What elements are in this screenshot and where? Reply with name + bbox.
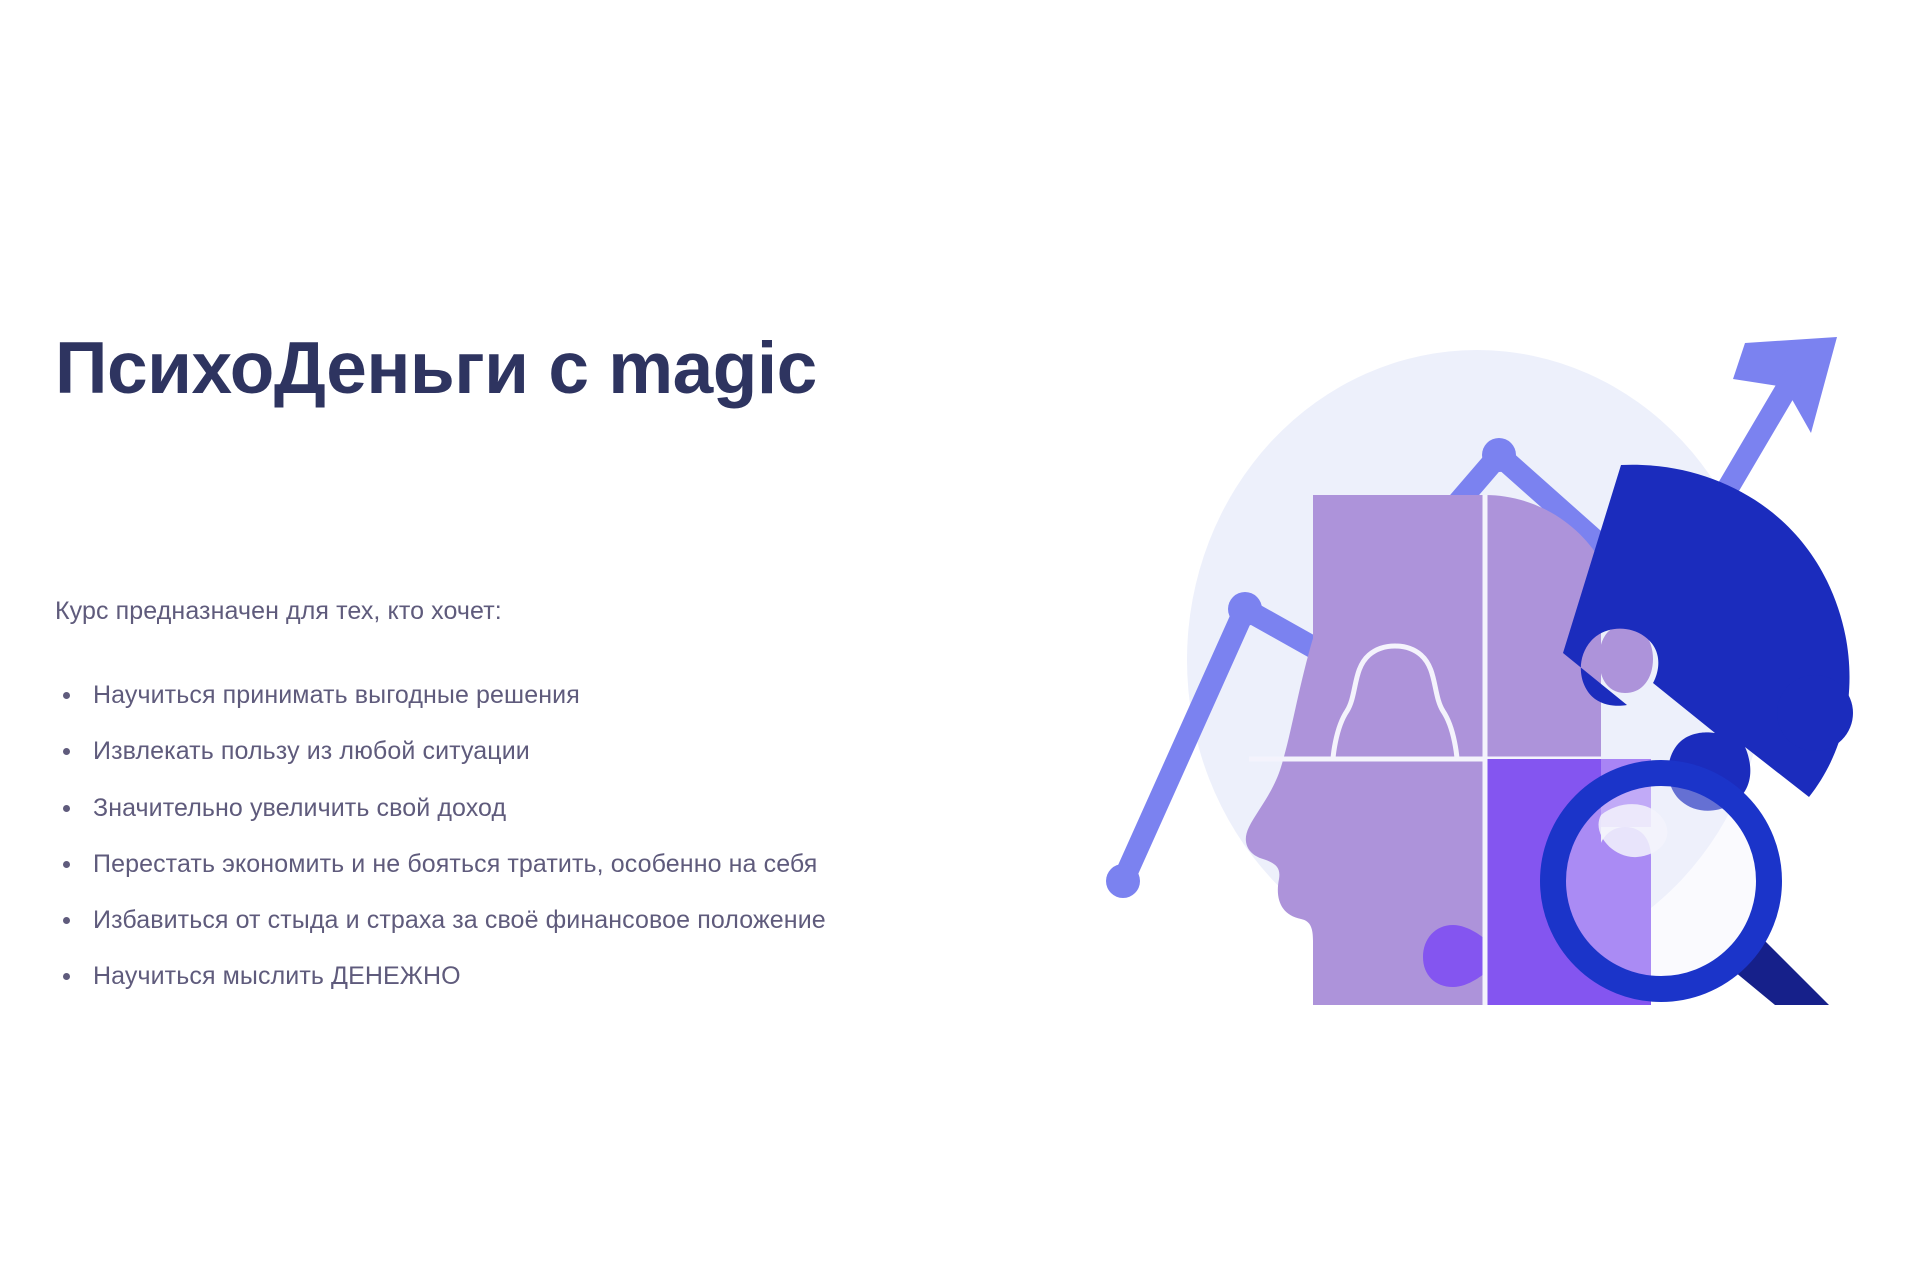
list-item-label: Перестать экономить и не бояться тратить… — [93, 850, 817, 878]
bullet-dot-icon — [63, 692, 70, 699]
page-title: ПсихоДеньги с magic — [55, 330, 995, 407]
list-item-label: Научиться мыслить ДЕНЕЖНО — [93, 962, 461, 990]
list-item: Извлекать пользу из любой ситуации — [55, 736, 995, 767]
bullet-dot-icon — [63, 748, 70, 755]
bullet-dot-icon — [63, 805, 70, 812]
benefits-list: Научиться принимать выгодные решения Изв… — [55, 680, 995, 993]
list-item-label: Значительно увеличить свой доход — [93, 794, 506, 822]
head-puzzle-growth-illustration — [1085, 315, 1885, 1005]
list-item: Перестать экономить и не бояться тратить… — [55, 849, 995, 880]
magnifier-dot-icon — [1777, 675, 1853, 751]
list-item: Значительно увеличить свой доход — [55, 793, 995, 824]
bullet-dot-icon — [63, 861, 70, 868]
bullet-dot-icon — [63, 917, 70, 924]
slide-root: ПсихоДеньги с magic Курс предназначен дл… — [0, 0, 1920, 1280]
left-content-column: ПсихоДеньги с magic Курс предназначен дл… — [55, 330, 995, 407]
list-item: Избавиться от стыда и страха за своё фин… — [55, 905, 995, 936]
bullet-dot-icon — [63, 973, 70, 980]
list-item: Научиться принимать выгодные решения — [55, 680, 995, 711]
list-item: Научиться мыслить ДЕНЕЖНО — [55, 961, 995, 992]
list-item-label: Извлекать пользу из любой ситуации — [93, 737, 530, 765]
list-item-label: Избавиться от стыда и страха за своё фин… — [93, 906, 826, 934]
list-item-label: Научиться принимать выгодные решения — [93, 681, 580, 709]
lead-paragraph: Курс предназначен для тех, кто хочет: — [55, 595, 502, 628]
magnifier-lens-shape — [1553, 773, 1769, 989]
